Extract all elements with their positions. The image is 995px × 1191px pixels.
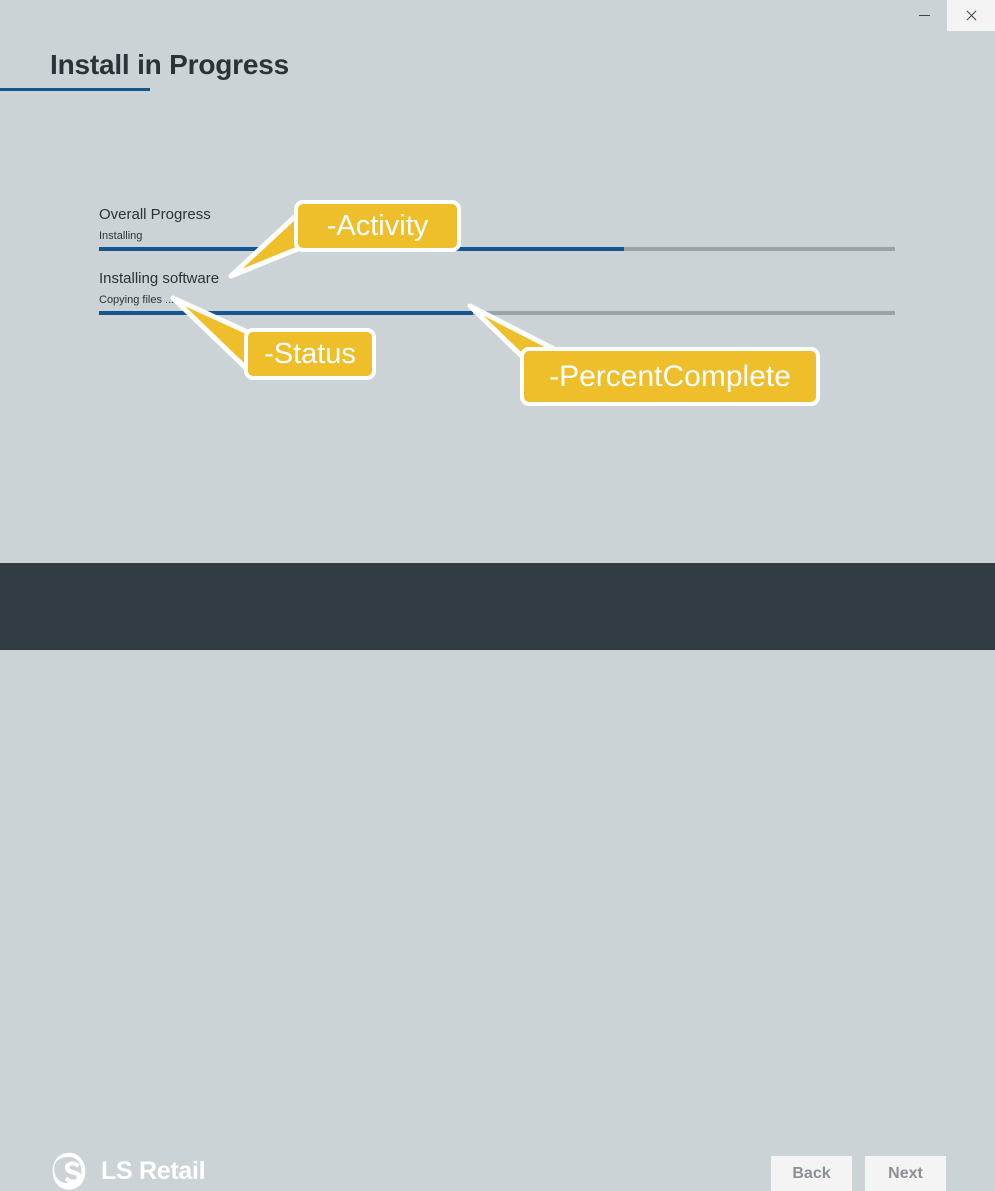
callout-activity: -Activity xyxy=(294,200,461,252)
footer-bar: LS Retail Back Next xyxy=(0,563,995,650)
installer-window: Install in Progress Overall Progress Ins… xyxy=(0,0,995,650)
overall-activity-label: Overall Progress xyxy=(99,205,895,225)
item-progress-fill xyxy=(99,311,473,315)
item-progress-block: Installing software Copying files ... xyxy=(99,269,895,315)
title-accent-rule xyxy=(0,88,150,91)
callout-percent-complete: -PercentComplete xyxy=(520,347,820,406)
close-icon xyxy=(965,10,977,22)
item-progress-track xyxy=(99,311,895,315)
title-bar xyxy=(0,0,995,31)
ls-retail-logo-icon xyxy=(50,1152,88,1190)
overall-status-label: Installing xyxy=(99,229,895,243)
item-status-label: Copying files ... xyxy=(99,293,895,307)
minimize-button[interactable] xyxy=(900,0,948,31)
brand: LS Retail xyxy=(50,1152,205,1190)
wizard-buttons: Back Next xyxy=(771,1156,946,1191)
callout-status: -Status xyxy=(244,328,376,380)
callout-tails xyxy=(0,0,995,650)
close-button[interactable] xyxy=(947,0,995,31)
item-activity-label: Installing software xyxy=(99,269,895,289)
overall-progress-block: Overall Progress Installing xyxy=(99,205,895,251)
back-button[interactable]: Back xyxy=(771,1156,852,1191)
brand-name: LS Retail xyxy=(101,1157,205,1186)
overall-progress-track xyxy=(99,247,895,251)
next-button[interactable]: Next xyxy=(865,1156,946,1191)
minimize-icon xyxy=(919,15,930,16)
page-title: Install in Progress xyxy=(50,49,289,81)
